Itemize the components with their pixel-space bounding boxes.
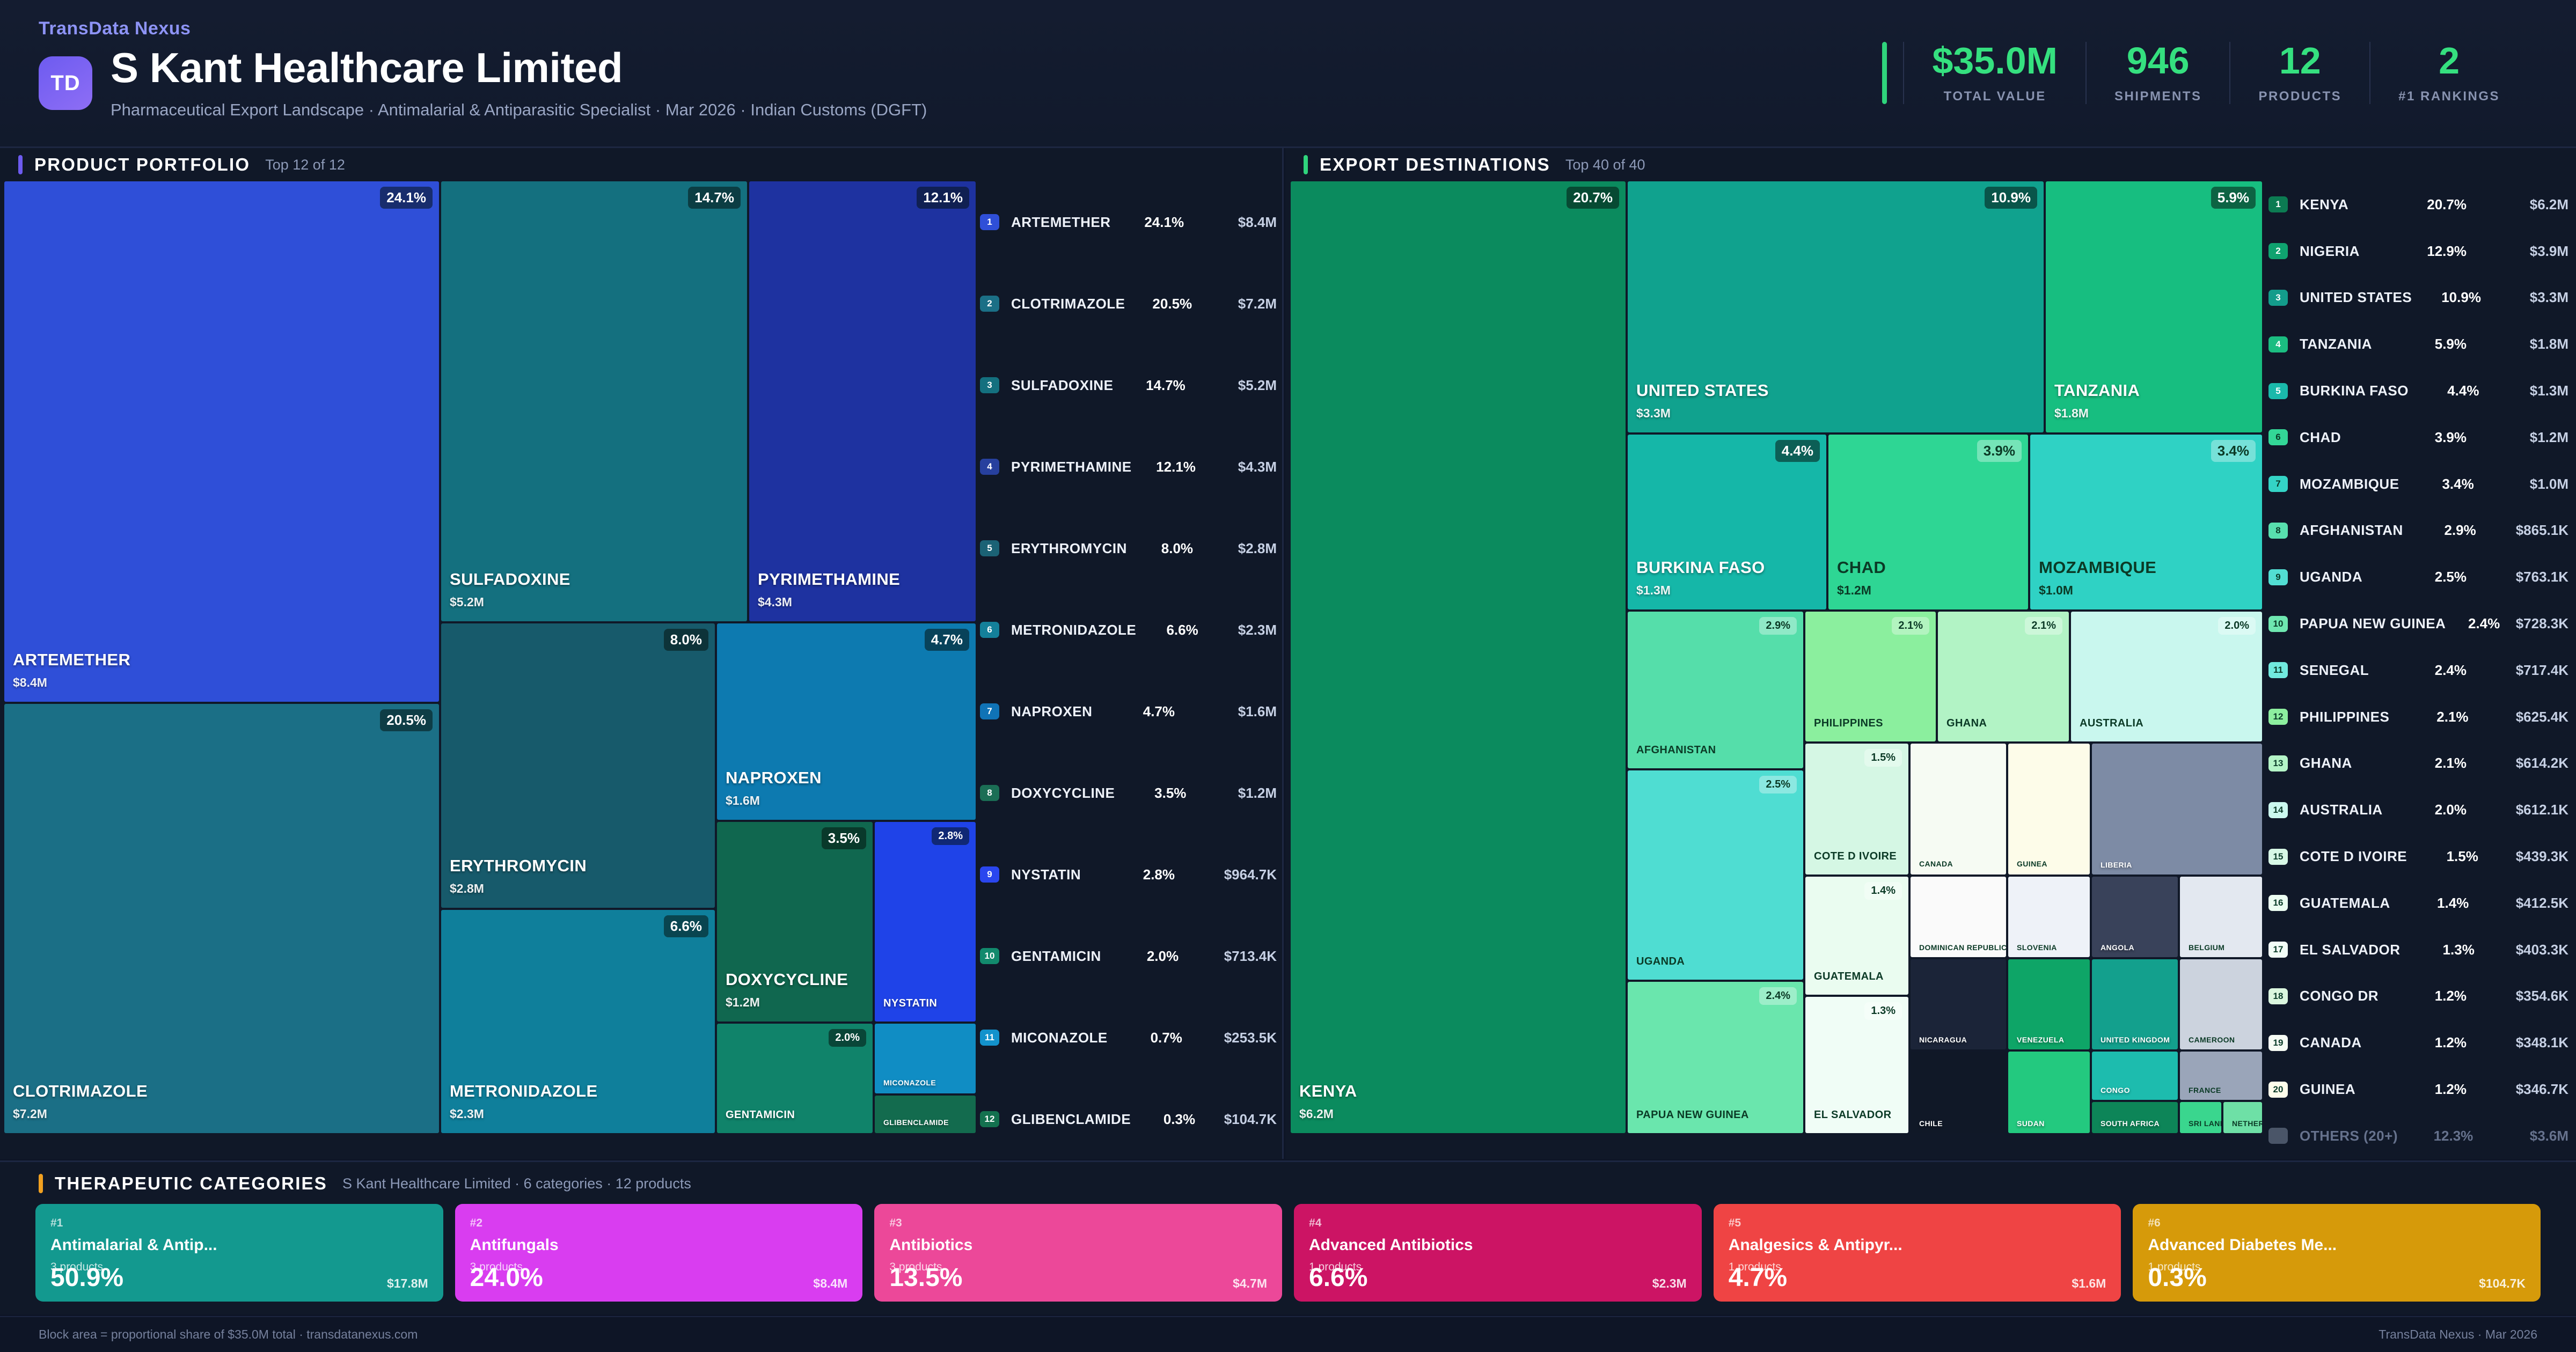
rank-item-name: CLOTRIMAZOLE xyxy=(1011,296,1125,312)
rank-item-value: $713.4K xyxy=(1179,948,1277,965)
tile-label: SRI LANKA xyxy=(2189,1119,2221,1128)
stat-shipments: 946SHIPMENTS xyxy=(2085,42,2230,104)
tile-value: $6.2M xyxy=(1299,1107,1334,1121)
rank-item-name: CANADA xyxy=(2300,1034,2362,1051)
rank-item-value: $3.3M xyxy=(2481,289,2568,306)
rank-item-percent: 4.7% xyxy=(1094,703,1175,720)
destination-tile[interactable]: 2.5%UGANDA xyxy=(1628,770,1803,980)
category-card[interactable]: #6Advanced Diabetes Me...1 products0.3%$… xyxy=(2133,1204,2541,1302)
tile-label: UNITED STATES xyxy=(1636,381,1769,400)
destination-tile[interactable]: 1.5%COTE D IVOIRE xyxy=(1805,744,1908,875)
rank-item-name: COTE D IVOIRE xyxy=(2300,848,2407,865)
product-rank-row[interactable]: 1ARTEMETHER24.1%$8.4M xyxy=(980,181,1277,263)
rank-item-value: $2.3M xyxy=(1198,622,1277,638)
product-portfolio-title: PRODUCT PORTFOLIO xyxy=(34,155,250,175)
export-destinations-panel: EXPORT DESTINATIONS Top 40 of 40 20.7%KE… xyxy=(1285,148,2576,1159)
rank-badge: 9 xyxy=(2268,569,2288,585)
rank-badge: 6 xyxy=(980,622,999,638)
rank-item-percent: 2.4% xyxy=(2446,615,2500,632)
rank-item-percent: 12.3% xyxy=(2398,1128,2473,1144)
dashboard-root: TransData Nexus TD S Kant Healthcare Lim… xyxy=(0,0,2576,1352)
destination-rank-row[interactable]: 1KENYA20.7%$6.2M xyxy=(2268,181,2568,228)
tile-percent: 4.4% xyxy=(1775,440,1820,462)
product-tile[interactable]: 3.5%DOXYCYCLINE$1.2M xyxy=(717,822,873,1022)
product-rank-row[interactable]: 5ERYTHROMYCIN8.0%$2.8M xyxy=(980,508,1277,589)
tile-value: $8.4M xyxy=(13,675,47,690)
brand-block: TransData Nexus TD S Kant Healthcare Lim… xyxy=(39,18,927,120)
rank-badge: 10 xyxy=(980,948,999,964)
rank-item-percent: 5.9% xyxy=(2386,336,2467,352)
tile-percent: 4.7% xyxy=(925,629,969,651)
tile-value: $2.3M xyxy=(450,1107,484,1121)
tile-label: UNITED KINGDOM xyxy=(2101,1035,2170,1044)
rank-item-name: KENYA xyxy=(2300,196,2348,213)
rank-badge: 16 xyxy=(2268,895,2288,911)
product-rank-row[interactable]: 7NAPROXEN4.7%$1.6M xyxy=(980,671,1277,752)
tile-label: MICONAZOLE xyxy=(883,1078,936,1087)
destination-tile[interactable]: NICARAGUA xyxy=(1911,959,2006,1049)
product-rank-row[interactable]: 6METRONIDAZOLE6.6%$2.3M xyxy=(980,589,1277,671)
destination-rank-row[interactable]: 5BURKINA FASO4.4%$1.3M xyxy=(2268,368,2568,414)
tile-percent: 3.5% xyxy=(822,827,866,849)
destination-tile[interactable]: BELGIUM xyxy=(2180,877,2262,957)
category-rank: #3 xyxy=(889,1217,1267,1230)
rank-item-percent: 2.0% xyxy=(2386,802,2467,818)
tile-value: $1.0M xyxy=(2039,583,2073,598)
rank-item-percent: 1.2% xyxy=(2386,1034,2467,1051)
tile-percent: 2.4% xyxy=(1759,987,1797,1005)
tile-label: BURKINA FASO xyxy=(1636,558,1765,577)
destination-tile[interactable]: 2.1%PHILIPPINES xyxy=(1805,612,1936,741)
rank-badge: 1 xyxy=(2268,196,2288,212)
destination-rank-row[interactable]: OTHERS (20+)12.3%$3.6M xyxy=(2268,1113,2568,1159)
rank-item-name: CONGO DR xyxy=(2300,988,2379,1004)
tile-label: AUSTRALIA xyxy=(2080,717,2143,730)
rank-item-value: $253.5K xyxy=(1182,1030,1277,1046)
rank-item-percent: 1.4% xyxy=(2390,895,2469,912)
tile-label: EL SALVADOR xyxy=(1814,1109,1891,1121)
rank-badge: 17 xyxy=(2268,942,2288,958)
rank-badge: 1 xyxy=(980,214,999,230)
product-rank-list[interactable]: 1ARTEMETHER24.1%$8.4M2CLOTRIMAZOLE20.5%$… xyxy=(980,181,1277,1155)
rank-item-percent: 0.7% xyxy=(1108,1030,1182,1046)
rank-item-percent: 2.0% xyxy=(1101,948,1179,965)
tile-label: CLOTRIMAZOLE xyxy=(13,1082,148,1101)
tile-percent: 1.3% xyxy=(1864,1002,1902,1020)
tile-value: $1.2M xyxy=(726,995,760,1010)
tile-label: ANGOLA xyxy=(2101,943,2134,952)
rank-item-percent: 2.8% xyxy=(1094,866,1175,883)
product-tile[interactable]: 12.1%PYRIMETHAMINE$4.3M xyxy=(749,181,976,621)
rank-item-name: AFGHANISTAN xyxy=(2300,522,2403,539)
product-portfolio-subtitle: Top 12 of 12 xyxy=(265,157,345,173)
tile-percent: 20.5% xyxy=(380,709,433,731)
destination-tile[interactable]: LIBERIA xyxy=(2092,744,2262,875)
rank-badge: 9 xyxy=(980,866,999,883)
product-tile[interactable]: 2.0%GENTAMICIN xyxy=(717,1024,873,1133)
category-percent: 24.0% xyxy=(470,1265,543,1291)
rank-item-percent: 2.5% xyxy=(2386,569,2467,585)
rank-item-percent: 8.0% xyxy=(1127,540,1193,557)
category-card[interactable]: #1Antimalarial & Antip...3 products50.9%… xyxy=(35,1204,443,1302)
destination-tile[interactable]: SOUTH AFRICA xyxy=(2092,1102,2178,1133)
rank-item-percent: 12.1% xyxy=(1132,459,1196,475)
tile-label: GLIBENCLAMIDE xyxy=(883,1118,949,1127)
rank-badge: 19 xyxy=(2268,1035,2288,1051)
tile-percent: 3.9% xyxy=(1977,440,2022,462)
rank-badge: 4 xyxy=(980,459,999,475)
rank-badge: 12 xyxy=(2268,709,2288,725)
destination-tile[interactable]: 10.9%UNITED STATES$3.3M xyxy=(1628,181,2044,432)
product-tile[interactable]: 6.6%METRONIDAZOLE$2.3M xyxy=(441,910,715,1133)
rank-item-name: GLIBENCLAMIDE xyxy=(1011,1111,1131,1128)
panel-accent-bar xyxy=(18,155,23,174)
destination-tile[interactable]: CONGO xyxy=(2092,1052,2178,1100)
category-rank: #4 xyxy=(1309,1217,1687,1230)
tile-percent: 12.1% xyxy=(917,187,969,209)
rank-item-value: $346.7K xyxy=(2467,1081,2568,1098)
tile-percent: 24.1% xyxy=(380,187,433,209)
tile-label: AFGHANISTAN xyxy=(1636,744,1716,756)
destination-tile[interactable]: 20.7%KENYA$6.2M xyxy=(1291,181,1626,1133)
rank-item-percent: 2.4% xyxy=(2386,662,2467,679)
rank-badge: 7 xyxy=(2268,476,2288,492)
destination-tile[interactable]: FRANCE xyxy=(2180,1052,2262,1100)
destination-tile[interactable]: CANADA xyxy=(1911,744,2006,875)
rank-badge: 8 xyxy=(980,785,999,801)
category-card[interactable]: #2Antifungals3 products24.0%$8.4M xyxy=(455,1204,863,1302)
tile-value: $5.2M xyxy=(450,595,484,609)
destination-rank-row[interactable]: 8AFGHANISTAN2.9%$865.1K xyxy=(2268,508,2568,554)
tile-label: TANZANIA xyxy=(2054,381,2140,400)
destination-tile[interactable]: 2.9%AFGHANISTAN xyxy=(1628,612,1803,768)
destination-rank-row[interactable]: 13GHANA2.1%$614.2K xyxy=(2268,740,2568,787)
rank-badge: 5 xyxy=(980,540,999,556)
destination-tile[interactable]: GUINEA xyxy=(2008,744,2090,875)
tile-value: $2.8M xyxy=(450,881,484,896)
tile-label: SLOVENIA xyxy=(2017,943,2057,952)
tile-label: LIBERIA xyxy=(2101,861,2132,869)
tile-label: ARTEMETHER xyxy=(13,650,130,670)
rank-item-value: $717.4K xyxy=(2467,662,2568,679)
rank-item-name: MICONAZOLE xyxy=(1011,1030,1108,1046)
rank-item-name: ARTEMETHER xyxy=(1011,214,1111,231)
rank-item-value: $439.3K xyxy=(2478,848,2568,865)
rank-item-value: $612.1K xyxy=(2467,802,2568,818)
rank-item-name: ERYTHROMYCIN xyxy=(1011,540,1127,557)
rank-item-name: UNITED STATES xyxy=(2300,289,2412,306)
stat-products: 12PRODUCTS xyxy=(2229,42,2369,104)
destination-tile[interactable]: 2.0%AUSTRALIA xyxy=(2071,612,2262,741)
tile-value: $7.2M xyxy=(13,1107,47,1121)
tile-label: CANADA xyxy=(1919,859,1953,868)
destination-rank-row[interactable]: 10PAPUA NEW GUINEA2.4%$728.3K xyxy=(2268,600,2568,647)
tile-label: NETHERLANDS xyxy=(2232,1119,2262,1128)
tile-label: PAPUA NEW GUINEA xyxy=(1636,1109,1749,1121)
rank-item-value: $763.1K xyxy=(2467,569,2568,585)
product-tile[interactable]: 2.8%NYSTATIN xyxy=(875,822,976,1022)
rank-badge: 12 xyxy=(980,1111,999,1127)
tile-label: FRANCE xyxy=(2189,1086,2221,1094)
category-card[interactable]: #5Analgesics & Antipyr...1 products4.7%$… xyxy=(1714,1204,2121,1302)
product-tile[interactable]: 14.7%SULFADOXINE$5.2M xyxy=(441,181,747,621)
destination-rank-row[interactable]: 4TANZANIA5.9%$1.8M xyxy=(2268,321,2568,368)
product-rank-row[interactable]: 9NYSTATIN2.8%$964.7K xyxy=(980,834,1277,915)
header-stats: $35.0MTOTAL VALUE946SHIPMENTS12PRODUCTS2… xyxy=(1882,42,2528,104)
rank-item-percent: 14.7% xyxy=(1113,377,1185,394)
product-tile[interactable]: 4.7%NAPROXEN$1.6M xyxy=(717,623,976,820)
rank-item-percent: 3.5% xyxy=(1115,785,1186,802)
category-card-row: #1Antimalarial & Antip...3 products50.9%… xyxy=(35,1204,2541,1302)
product-rank-row[interactable]: 3SULFADOXINE14.7%$5.2M xyxy=(980,344,1277,426)
category-rank: #1 xyxy=(50,1217,428,1230)
category-name: Antifungals xyxy=(470,1236,848,1254)
rank-item-value: $412.5K xyxy=(2469,895,2568,912)
destination-tile[interactable]: 4.4%BURKINA FASO$1.3M xyxy=(1628,435,1826,609)
rank-item-name: NIGERIA xyxy=(2300,243,2360,260)
category-value: $4.7M xyxy=(1233,1276,1267,1291)
category-name: Analgesics & Antipyr... xyxy=(1729,1236,2106,1254)
tile-percent: 2.0% xyxy=(829,1029,866,1047)
destination-rank-row[interactable]: 20GUINEA1.2%$346.7K xyxy=(2268,1066,2568,1113)
destination-tile[interactable]: UNITED KINGDOM xyxy=(2092,959,2178,1049)
rank-badge xyxy=(2268,1128,2288,1144)
rank-item-percent: 24.1% xyxy=(1111,214,1184,231)
page-title: S Kant Healthcare Limited xyxy=(111,47,927,89)
category-metrics: 24.0%$8.4M xyxy=(470,1265,848,1291)
panel-accent-bar xyxy=(39,1174,43,1193)
rank-item-value: $354.6K xyxy=(2467,988,2568,1004)
export-destinations-title: EXPORT DESTINATIONS xyxy=(1320,155,1550,175)
destination-tile[interactable]: CAMEROON xyxy=(2180,959,2262,1049)
tile-percent: 2.0% xyxy=(2218,617,2256,635)
destination-rank-row[interactable]: 6CHAD3.9%$1.2M xyxy=(2268,414,2568,461)
tile-label: PHILIPPINES xyxy=(1814,717,1883,730)
rank-item-value: $7.2M xyxy=(1192,296,1277,312)
destination-tile[interactable]: 1.3%EL SALVADOR xyxy=(1805,997,1908,1133)
tile-value: $3.3M xyxy=(1636,406,1671,421)
therapeutic-categories-subtitle: S Kant Healthcare Limited · 6 categories… xyxy=(342,1175,691,1192)
destination-rank-row[interactable]: 7MOZAMBIQUE3.4%$1.0M xyxy=(2268,461,2568,508)
tile-percent: 8.0% xyxy=(664,629,708,651)
tile-percent: 2.1% xyxy=(1892,617,1929,635)
tile-label: PYRIMETHAMINE xyxy=(758,570,900,589)
destination-tile[interactable]: NETHERLANDS xyxy=(2223,1102,2262,1133)
rank-item-percent: 2.1% xyxy=(2386,755,2467,771)
stat-value: 12 xyxy=(2279,42,2321,79)
category-card[interactable]: #3Antibiotics3 products13.5%$4.7M xyxy=(874,1204,1282,1302)
destination-tile[interactable]: 2.1%GHANA xyxy=(1938,612,2069,741)
destination-rank-row[interactable]: 9UGANDA2.5%$763.1K xyxy=(2268,554,2568,600)
destination-rank-list[interactable]: 1KENYA20.7%$6.2M2NIGERIA12.9%$3.9M3UNITE… xyxy=(2268,181,2568,1155)
page-subtitle: Pharmaceutical Export Landscape · Antima… xyxy=(111,100,927,120)
rank-item-name: GENTAMICIN xyxy=(1011,948,1101,965)
destination-tile[interactable]: CHILE xyxy=(1911,1052,2006,1133)
product-rank-row[interactable]: 4PYRIMETHAMINE12.1%$4.3M xyxy=(980,426,1277,508)
category-percent: 4.7% xyxy=(1729,1265,1787,1291)
destination-rank-row[interactable]: 2NIGERIA12.9%$3.9M xyxy=(2268,228,2568,275)
therapeutic-categories-panel: THERAPEUTIC CATEGORIES S Kant Healthcare… xyxy=(0,1160,2576,1314)
tile-label: MOZAMBIQUE xyxy=(2039,558,2156,577)
tile-value: $4.3M xyxy=(758,595,792,609)
rank-item-value: $1.2M xyxy=(2467,429,2568,446)
rank-badge: 15 xyxy=(2268,849,2288,865)
category-percent: 50.9% xyxy=(50,1265,123,1291)
rank-item-percent: 0.3% xyxy=(1131,1111,1195,1128)
tile-label: GUINEA xyxy=(2017,859,2047,868)
rank-badge: 13 xyxy=(2268,755,2288,771)
destination-rank-row[interactable]: 16GUATEMALA1.4%$412.5K xyxy=(2268,880,2568,927)
tile-label: SUDAN xyxy=(2017,1119,2045,1128)
tile-label: COTE D IVOIRE xyxy=(1814,850,1897,863)
destination-tile[interactable]: SRI LANKA xyxy=(2180,1102,2221,1133)
tile-label: NAPROXEN xyxy=(726,768,822,788)
destination-tile[interactable]: VENEZUELA xyxy=(2008,959,2090,1049)
rank-badge: 11 xyxy=(980,1030,999,1046)
stats-accent-bar xyxy=(1882,42,1887,104)
stat-value: $35.0M xyxy=(1932,42,2057,79)
tile-percent: 14.7% xyxy=(688,187,741,209)
rank-item-name: METRONIDAZOLE xyxy=(1011,622,1136,638)
rank-item-value: $348.1K xyxy=(2467,1034,2568,1051)
destination-rank-row[interactable]: 14AUSTRALIA2.0%$612.1K xyxy=(2268,787,2568,833)
rank-item-value: $4.3M xyxy=(1196,459,1277,475)
tile-percent: 2.5% xyxy=(1759,776,1797,793)
tile-label: VENEZUELA xyxy=(2017,1035,2064,1044)
destination-rank-row[interactable]: 12PHILIPPINES2.1%$625.4K xyxy=(2268,694,2568,740)
category-name: Antimalarial & Antip... xyxy=(50,1236,428,1254)
destination-tile[interactable]: SUDAN xyxy=(2008,1052,2090,1133)
panel-accent-bar xyxy=(1304,155,1308,174)
stat-value: 946 xyxy=(2127,42,2190,79)
product-tile[interactable]: MICONAZOLE xyxy=(875,1024,976,1093)
tile-label: DOXYCYCLINE xyxy=(726,970,848,989)
rank-item-percent: 3.9% xyxy=(2386,429,2467,446)
category-value: $104.7K xyxy=(2479,1276,2526,1291)
rank-item-percent: 1.2% xyxy=(2386,988,2467,1004)
tile-label: DOMINICAN REPUBLIC xyxy=(1919,943,2006,952)
product-rank-row[interactable]: 10GENTAMICIN2.0%$713.4K xyxy=(980,915,1277,997)
rank-item-name: BURKINA FASO xyxy=(2300,383,2409,399)
rank-badge: 8 xyxy=(2268,523,2288,539)
product-tile[interactable]: 24.1%ARTEMETHER$8.4M xyxy=(4,181,439,702)
rank-item-value: $403.3K xyxy=(2475,942,2568,958)
rank-item-percent: 12.9% xyxy=(2386,243,2467,260)
category-metrics: 4.7%$1.6M xyxy=(1729,1265,2106,1291)
rank-item-value: $104.7K xyxy=(1195,1111,1277,1128)
rank-item-value: $728.3K xyxy=(2500,615,2568,632)
rank-item-name: PYRIMETHAMINE xyxy=(1011,459,1132,475)
destination-treemap[interactable]: 20.7%KENYA$6.2M10.9%UNITED STATES$3.3M5.… xyxy=(1291,181,2265,1153)
tile-percent: 6.6% xyxy=(664,915,708,937)
category-rank: #5 xyxy=(1729,1217,2106,1230)
therapeutic-categories-title: THERAPEUTIC CATEGORIES xyxy=(55,1173,327,1194)
tile-label: GUATEMALA xyxy=(1814,971,1884,983)
destination-tile[interactable]: 5.9%TANZANIA$1.8M xyxy=(2046,181,2262,432)
rank-item-percent: 1.2% xyxy=(2386,1081,2467,1098)
category-metrics: 6.6%$2.3M xyxy=(1309,1265,1687,1291)
tile-label: GHANA xyxy=(1946,717,1987,730)
tile-label: CHAD xyxy=(1837,558,1886,577)
product-tile[interactable]: GLIBENCLAMIDE xyxy=(875,1096,976,1133)
rank-badge: 11 xyxy=(2268,662,2288,678)
tile-label: BELGIUM xyxy=(2189,943,2224,952)
rank-item-value: $8.4M xyxy=(1184,214,1277,231)
tile-percent: 1.5% xyxy=(1864,749,1902,767)
destination-rank-row[interactable]: 17EL SALVADOR1.3%$403.3K xyxy=(2268,927,2568,973)
tile-percent: 2.8% xyxy=(932,827,969,845)
tile-percent: 3.4% xyxy=(2211,440,2256,462)
category-value: $8.4M xyxy=(813,1276,847,1291)
tile-label: CAMEROON xyxy=(2189,1035,2235,1044)
tile-value: $1.3M xyxy=(1636,583,1671,598)
rank-item-percent: 2.1% xyxy=(2389,709,2468,725)
rank-badge: 7 xyxy=(980,703,999,719)
product-rank-row[interactable]: 2CLOTRIMAZOLE20.5%$7.2M xyxy=(980,263,1277,344)
destination-tile[interactable]: 2.4%PAPUA NEW GUINEA xyxy=(1628,982,1803,1133)
product-rank-row[interactable]: 8DOXYCYCLINE3.5%$1.2M xyxy=(980,752,1277,834)
tile-percent: 5.9% xyxy=(2211,187,2256,209)
rank-item-percent: 6.6% xyxy=(1136,622,1198,638)
product-rank-row[interactable]: 12GLIBENCLAMIDE0.3%$104.7K xyxy=(980,1078,1277,1160)
rank-item-name: EL SALVADOR xyxy=(2300,942,2401,958)
rank-item-name: AUSTRALIA xyxy=(2300,802,2383,818)
rank-item-value: $865.1K xyxy=(2476,522,2568,539)
rank-badge: 4 xyxy=(2268,336,2288,352)
rank-item-percent: 3.4% xyxy=(2399,476,2474,493)
product-portfolio-header: PRODUCT PORTFOLIO Top 12 of 12 xyxy=(0,148,1282,181)
product-portfolio-panel: PRODUCT PORTFOLIO Top 12 of 12 24.1%ARTE… xyxy=(0,148,1284,1159)
category-percent: 0.3% xyxy=(2148,1265,2206,1291)
destination-tile[interactable]: DOMINICAN REPUBLIC xyxy=(1911,877,2006,957)
destination-rank-row[interactable]: 3UNITED STATES10.9%$3.3M xyxy=(2268,275,2568,321)
footer-left-note: Block area = proportional share of $35.0… xyxy=(39,1327,418,1342)
stat-label: #1 RANKINGS xyxy=(2398,89,2500,104)
rank-item-name: NYSTATIN xyxy=(1011,866,1081,883)
stat-value: 2 xyxy=(2439,42,2460,79)
export-destinations-subtitle: Top 40 of 40 xyxy=(1565,157,1645,173)
product-tile[interactable]: 8.0%ERYTHROMYCIN$2.8M xyxy=(441,623,715,908)
destination-rank-row[interactable]: 19CANADA1.2%$348.1K xyxy=(2268,1019,2568,1066)
rank-badge: 6 xyxy=(2268,429,2288,445)
stat-total-value: $35.0MTOTAL VALUE xyxy=(1903,42,2085,104)
rank-item-value: $3.6M xyxy=(2473,1128,2568,1144)
rank-item-name: DOXYCYCLINE xyxy=(1011,785,1115,802)
destination-tile[interactable]: SLOVENIA xyxy=(2008,877,2090,957)
rank-item-value: $625.4K xyxy=(2469,709,2568,725)
destination-rank-row[interactable]: 18CONGO DR1.2%$354.6K xyxy=(2268,973,2568,1020)
tile-percent: 1.4% xyxy=(1864,882,1902,900)
destination-tile[interactable]: 1.4%GUATEMALA xyxy=(1805,877,1908,995)
stat-label: SHIPMENTS xyxy=(2114,89,2202,104)
brand-name: TransData Nexus xyxy=(39,18,927,39)
tile-value: $1.2M xyxy=(1837,583,1871,598)
rank-item-value: $5.2M xyxy=(1185,377,1277,394)
product-treemap[interactable]: 24.1%ARTEMETHER$8.4M20.5%CLOTRIMAZOLE$7.… xyxy=(4,181,976,1153)
destination-tile[interactable]: 3.9%CHAD$1.2M xyxy=(1828,435,2028,609)
product-tile[interactable]: 20.5%CLOTRIMAZOLE$7.2M xyxy=(4,704,439,1133)
rank-badge: 3 xyxy=(980,377,999,393)
category-metrics: 0.3%$104.7K xyxy=(2148,1265,2526,1291)
product-rank-row[interactable]: 11MICONAZOLE0.7%$253.5K xyxy=(980,997,1277,1078)
rank-badge: 18 xyxy=(2268,988,2288,1004)
tile-label: GENTAMICIN xyxy=(726,1109,795,1121)
category-card[interactable]: #4Advanced Antibiotics1 products6.6%$2.3… xyxy=(1294,1204,1702,1302)
destination-rank-row[interactable]: 15COTE D IVOIRE1.5%$439.3K xyxy=(2268,833,2568,880)
destination-tile[interactable]: ANGOLA xyxy=(2092,877,2178,957)
destination-tile[interactable]: 3.4%MOZAMBIQUE$1.0M xyxy=(2030,435,2262,609)
destination-rank-row[interactable]: 11SENEGAL2.4%$717.4K xyxy=(2268,647,2568,694)
